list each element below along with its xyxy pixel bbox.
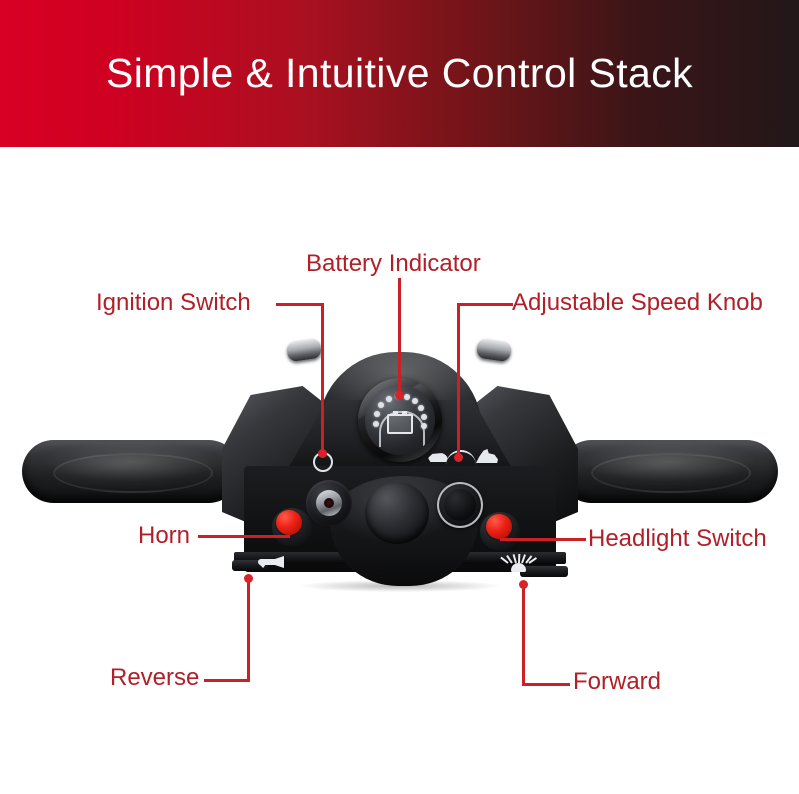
connector-dot-speed — [454, 453, 463, 462]
connector-headlight — [500, 538, 586, 541]
ignition-chrome-ring — [316, 490, 342, 516]
callout-label-reverse: Reverse — [110, 666, 199, 690]
center-hub-knob[interactable] — [365, 482, 429, 544]
connector-ignition-h — [276, 303, 324, 306]
connector-forward-h — [522, 683, 570, 686]
gauge-led — [373, 421, 379, 427]
connector-ignition-v — [321, 303, 324, 453]
battery-icon — [387, 414, 413, 434]
connector-dot-ignition — [318, 449, 327, 458]
headlight-icon — [504, 552, 532, 572]
ignition-key-barrel[interactable] — [306, 480, 352, 526]
left-handlebar-grip — [22, 440, 240, 503]
hare-icon — [476, 449, 498, 463]
left-grip-oval-indent — [53, 453, 214, 494]
connector-battery-indicator — [398, 278, 401, 395]
horn-icon — [258, 556, 284, 568]
right-handlebar-grip — [560, 440, 778, 503]
headlight-icon-ray — [518, 554, 520, 563]
callout-label-ignition-switch: Ignition Switch — [96, 291, 251, 315]
header-banner: Simple & Intuitive Control Stack — [0, 0, 799, 147]
callout-label-headlight-switch: Headlight Switch — [588, 527, 767, 551]
callout-label-forward: Forward — [573, 670, 661, 694]
callout-label-horn: Horn — [138, 524, 190, 548]
speed-range-markings — [428, 448, 500, 466]
gauge-led — [386, 396, 392, 402]
horn-icon-bell — [273, 556, 284, 568]
headlight-button[interactable] — [486, 514, 512, 539]
gauge-led — [421, 423, 427, 429]
connector-dot-battery-indicator — [395, 391, 404, 400]
connector-dot-reverse — [244, 574, 253, 583]
horn-icon-tail — [259, 564, 266, 568]
gauge-led — [412, 398, 418, 404]
gauge-led — [374, 411, 380, 417]
gauge-led — [418, 405, 424, 411]
connector-speed-v — [457, 303, 460, 458]
connector-reverse-v — [247, 578, 250, 681]
connector-forward-v — [522, 584, 525, 685]
gauge-led — [378, 402, 384, 408]
adjustable-speed-knob[interactable] — [437, 482, 483, 528]
connector-speed-h — [457, 303, 513, 306]
speed-knob-inner — [444, 489, 476, 521]
callout-label-battery-indicator: Battery Indicator — [306, 252, 481, 276]
headlight-icon-ray — [513, 554, 517, 563]
ground-shadow — [300, 580, 500, 592]
connector-horn — [198, 535, 290, 538]
callout-label-adjustable-speed-knob: Adjustable Speed Knob — [512, 291, 763, 315]
right-grip-oval-indent — [591, 453, 752, 494]
connector-reverse-h — [204, 679, 250, 682]
connector-dot-forward — [519, 580, 528, 589]
ignition-keyhole — [324, 498, 334, 508]
horn-button[interactable] — [276, 510, 302, 535]
headlight-icon-lamp — [511, 563, 526, 572]
tortoise-icon — [428, 453, 448, 462]
screenshot-root: Simple & Intuitive Control Stack — [0, 0, 799, 794]
gauge-led — [421, 414, 427, 420]
gauge-led — [404, 394, 410, 400]
page-title: Simple & Intuitive Control Stack — [0, 0, 799, 147]
